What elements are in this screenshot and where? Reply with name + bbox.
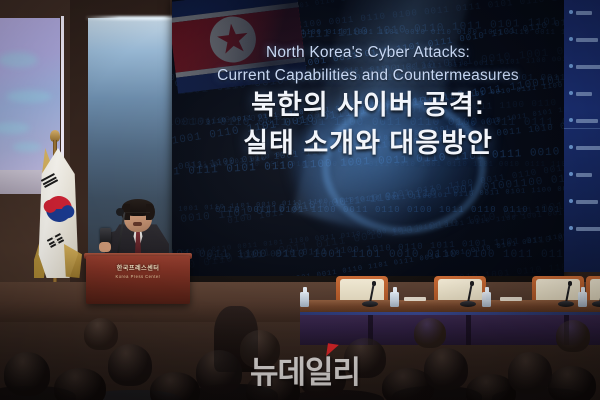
slide-title-en-line2: Current Capabilities and Countermeasures [172, 65, 564, 88]
slide-title-ko-line2: 실태 소개와 대응방안 [172, 124, 564, 162]
audience-head [414, 318, 446, 348]
table-microphone [362, 281, 378, 307]
table-microphone [592, 281, 600, 307]
slide-bullet-line [576, 200, 598, 204]
slide-bullet-marker [569, 37, 573, 41]
water-bottle [390, 287, 399, 307]
slide-bullet-marker [569, 118, 573, 122]
table-microphone [558, 281, 574, 307]
podium-sign: 한국프레스센터 Korea Press Center [86, 263, 190, 279]
audience-head [84, 318, 118, 350]
slide-bullet-line [576, 92, 592, 96]
watermark-accent-icon [326, 343, 339, 357]
water-bottle [482, 287, 491, 307]
slide-bullet-marker [569, 226, 573, 230]
table-paper [500, 297, 522, 301]
podium: 한국프레스센터 Korea Press Center [86, 256, 190, 304]
slide-title-en-line1: North Korea's Cyber Attacks: [172, 42, 564, 65]
podium-microphone [116, 208, 124, 216]
slide-bullet-line [576, 146, 600, 150]
water-bottle [300, 287, 309, 307]
slide-title-ko-line1: 북한의 사이버 공격: [172, 86, 564, 124]
podium-sign-korean: 한국프레스센터 [86, 263, 190, 272]
slide-bullet-line [576, 119, 598, 123]
audience-head [548, 366, 596, 400]
slide-bullet-line [576, 38, 598, 42]
watermark-text: 뉴데일리 [243, 347, 367, 392]
speaker-hand [99, 242, 111, 252]
audience-head [108, 344, 152, 386]
slide-bullet-line [576, 65, 600, 69]
south-korea-flag [28, 136, 84, 288]
audience-head [556, 320, 590, 352]
slide-bullet-line [576, 11, 592, 15]
slide-bullet-marker [569, 64, 573, 68]
audience-head [508, 352, 552, 394]
slide-bullet-marker [569, 145, 573, 149]
podium-sign-english: Korea Press Center [86, 274, 190, 279]
slide-title-korean: 북한의 사이버 공격: 실태 소개와 대응방안 [172, 86, 564, 163]
flag-fringe-bottom [64, 244, 82, 278]
table-paper [404, 297, 426, 301]
slide-bullet-marker [569, 172, 573, 176]
audience-head [424, 348, 468, 390]
audience-head [4, 352, 50, 396]
panel-table-skirt [300, 315, 600, 345]
slide-bullet-line [576, 227, 600, 231]
speaker-mouth [133, 222, 142, 226]
audience-head [54, 368, 106, 400]
newdaily-watermark: 뉴데일리 [243, 347, 367, 387]
press-conference-photo: 01001100 0110 1001 0011 0111 0010 1101 0… [0, 0, 600, 400]
slide-bullet-marker [569, 199, 573, 203]
slide-bullet-line [576, 173, 592, 177]
slide-bullet-marker [569, 91, 573, 95]
speaker-glasses [126, 212, 150, 219]
slide-bullet-marker [569, 10, 573, 14]
table-microphone [460, 281, 476, 307]
audience-head [196, 350, 242, 394]
main-presentation-screen: 01001100 0110 1001 0011 0111 0010 1101 0… [172, 0, 564, 278]
water-bottle [578, 287, 587, 307]
secondary-slide-panel [564, 0, 600, 272]
table-leg [466, 315, 471, 345]
slide-title-english: North Korea's Cyber Attacks: Current Cap… [172, 42, 564, 88]
